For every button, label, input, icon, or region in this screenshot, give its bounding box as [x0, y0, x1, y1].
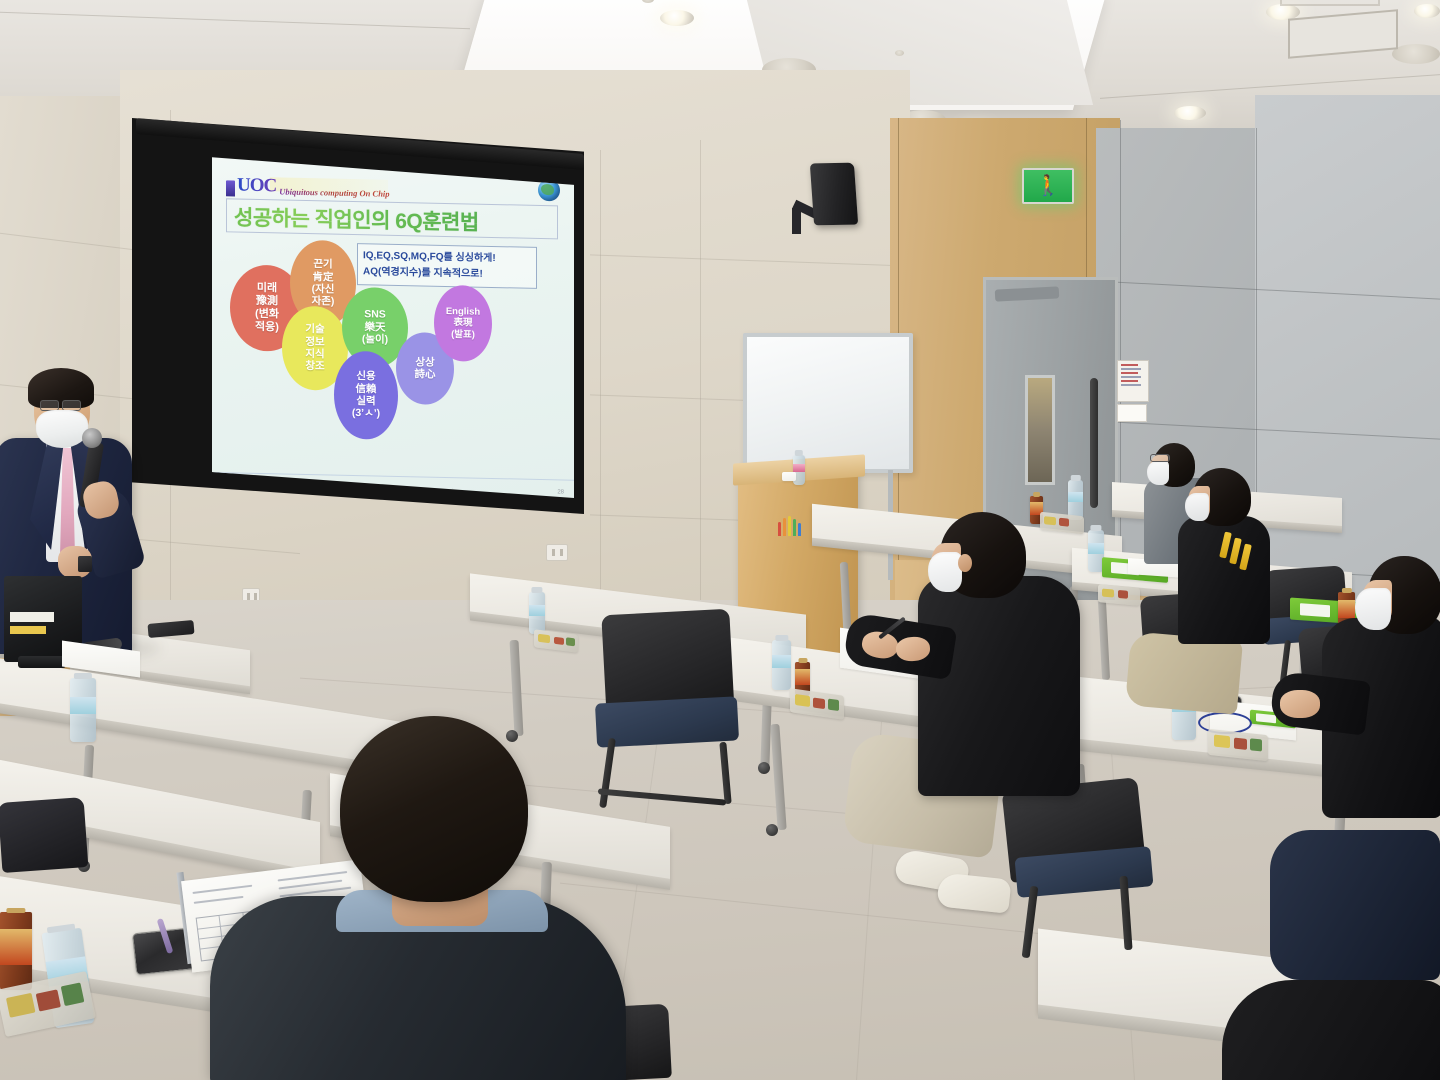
whiteboard — [743, 333, 913, 473]
wall-speaker — [810, 163, 858, 226]
ceiling-sensor-icon — [895, 50, 904, 56]
water-bottle[interactable] — [529, 592, 545, 634]
wall-poster — [1117, 360, 1149, 402]
monitor-label-sticker — [10, 626, 46, 634]
slide-callout: IQ,EQ,SQ,MQ,FQ를 싱싱하게! AQ(역경지수)를 지속적으로! — [357, 243, 537, 289]
downlight-icon — [1414, 4, 1440, 18]
attendee-right-legs — [1270, 830, 1440, 980]
monitor-stand — [18, 656, 66, 668]
attendee-foreground-head — [340, 716, 528, 902]
monitor-label-sticker — [10, 612, 54, 622]
bubble-english: English 表現 (발표) — [434, 285, 492, 362]
snack-pack[interactable] — [1098, 584, 1140, 606]
running-person-icon: 🚶 — [1036, 176, 1061, 196]
slide-page-number: 28 — [557, 489, 564, 495]
logo-tagline: Ubiquitous computing On Chip — [279, 186, 389, 198]
downlight-icon — [1174, 106, 1206, 120]
bubble-label: English 表現 (발표) — [446, 306, 480, 340]
podium-logo-icon — [778, 520, 806, 542]
face-mask — [928, 552, 962, 592]
face-mask — [1355, 588, 1391, 630]
downlight-off-icon — [1392, 44, 1440, 64]
bubble-label: SNS 樂天 (놀이) — [362, 309, 388, 347]
face-mask — [1147, 461, 1169, 485]
logo-bar-icon — [226, 180, 235, 196]
presentation-slide: UOC Ubiquitous computing On Chip 성공하는 직업… — [212, 152, 574, 498]
bubble-label: 신용 信賴 실력 (3’ㅅ’) — [352, 370, 380, 420]
glasses-icon — [1150, 454, 1170, 462]
wall-notice — [1117, 404, 1147, 422]
logo-text: UOC — [237, 175, 276, 198]
face-mask — [36, 410, 88, 448]
far-right-wall — [1255, 95, 1440, 615]
callout-line-2: AQ(역경지수)를 지속적으로! — [363, 264, 531, 283]
wall-outlet[interactable] — [546, 544, 568, 561]
ceiling-vent — [1280, 0, 1380, 6]
speaker-bracket — [792, 208, 801, 234]
attendee-hand — [1280, 690, 1320, 718]
bubble-label: 상상 詩心 — [415, 356, 436, 381]
downlight-icon — [660, 10, 694, 26]
seminar-room-photo: 🚶 UOC Ubiquitous computing On Chip 성공하는 — [0, 0, 1440, 1080]
attendee-center-body — [918, 576, 1080, 796]
face-mask — [1185, 493, 1209, 521]
chair-backrest[interactable] — [0, 797, 88, 873]
attendee-ear — [958, 554, 972, 572]
bubble-label: 끈기 肯定 (자신 자존) — [312, 258, 335, 308]
chair-seat[interactable] — [595, 696, 739, 747]
slide-title: 성공하는 직업인의 6Q훈련법 — [234, 201, 479, 236]
tea-bottle[interactable] — [0, 912, 32, 990]
water-bottle[interactable] — [70, 678, 96, 742]
attendee-striped-body — [1178, 516, 1270, 644]
presenter-badge — [78, 556, 92, 572]
water-bottle[interactable] — [772, 640, 791, 690]
presenter-hair — [28, 368, 94, 408]
exit-sign: 🚶 — [1022, 168, 1074, 204]
bubble-label: 기술 정보 지식 창조 — [305, 323, 324, 373]
paper-cup — [782, 472, 796, 481]
microphone-head-icon[interactable] — [82, 428, 102, 448]
attendee-bottom-right — [1222, 980, 1440, 1080]
bubble-label: 미래 豫測 (변화 적응) — [255, 282, 279, 334]
door-handle[interactable] — [1090, 378, 1098, 508]
bubble-sinyong: 신용 信賴 실력 (3’ㅅ’) — [334, 351, 398, 440]
door-window — [1025, 375, 1055, 485]
uoc-logo: UOC Ubiquitous computing On Chip — [226, 174, 390, 199]
